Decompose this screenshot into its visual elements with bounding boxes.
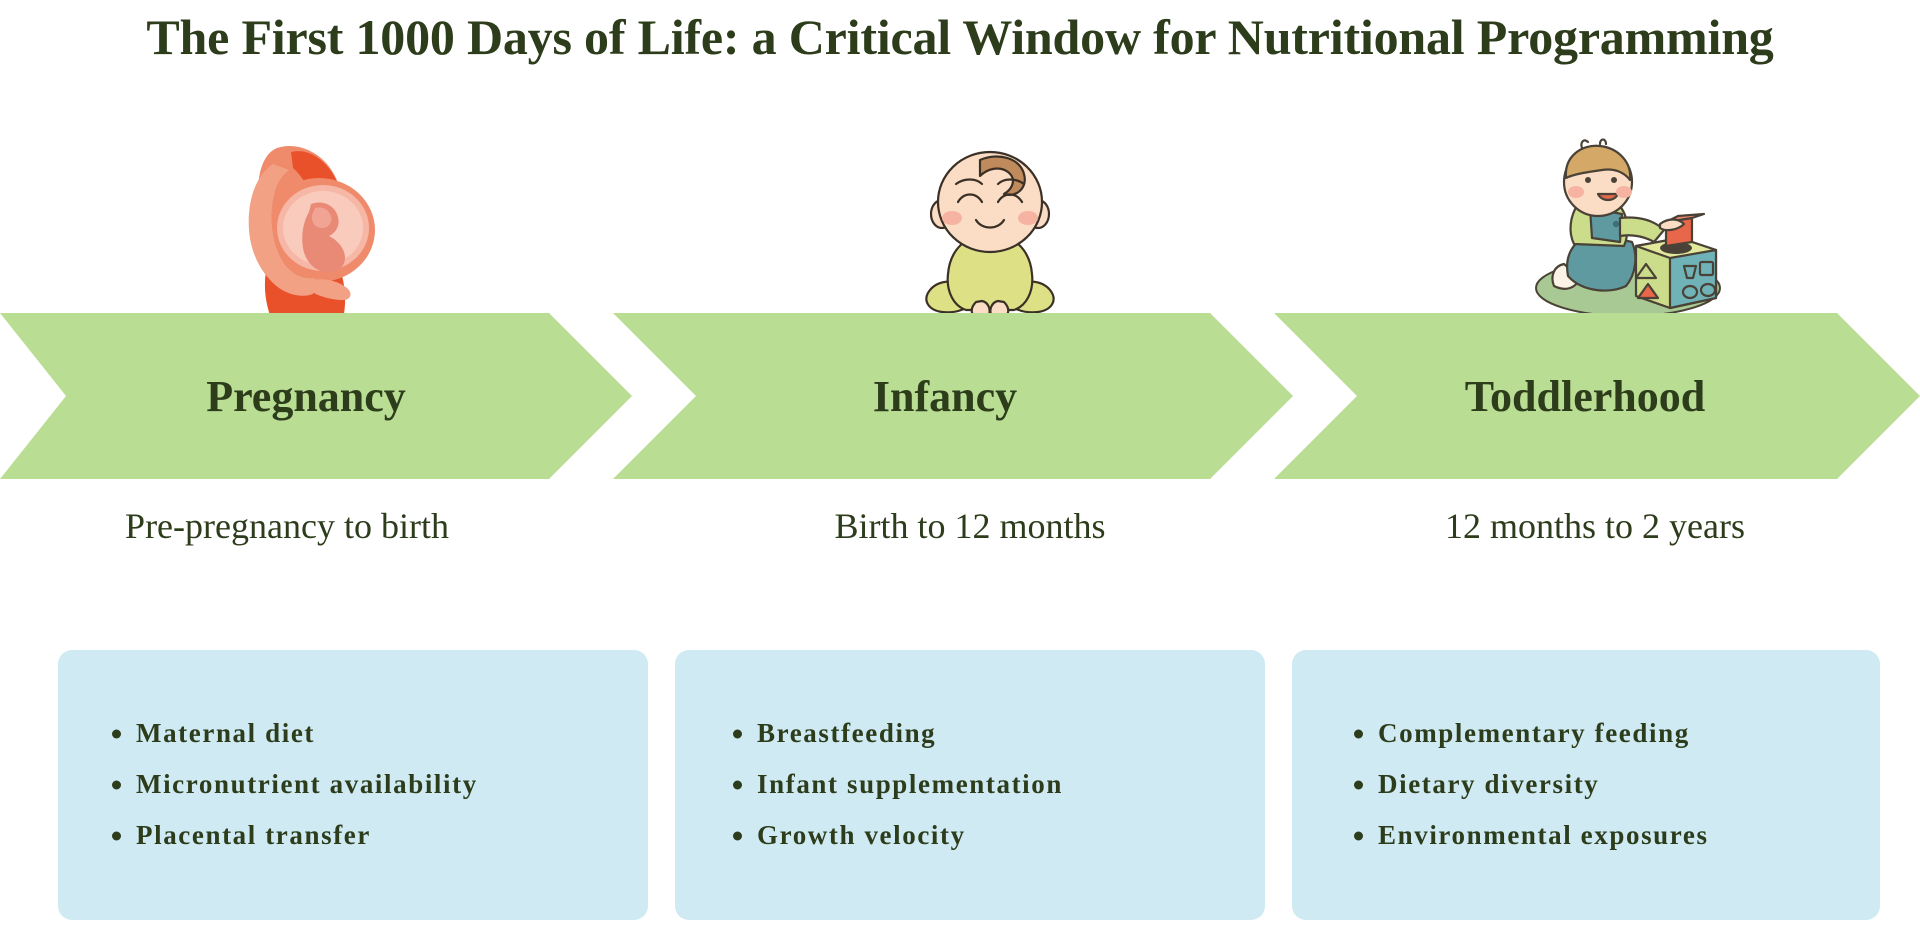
list-item: Breastfeeding xyxy=(675,708,1265,759)
factors-card-pregnancy: Maternal diet Micronutrient availability… xyxy=(58,650,648,920)
chevron-label: Infancy xyxy=(873,371,1017,422)
bullet-dot-icon xyxy=(1354,729,1363,738)
bullet-dot-icon xyxy=(1354,831,1363,840)
list-item: Dietary diversity xyxy=(1292,759,1880,810)
bullet-dot-icon xyxy=(112,780,121,789)
bullet-dot-icon xyxy=(733,729,742,738)
list-item: Micronutrient availability xyxy=(58,759,648,810)
list-item-label: Growth velocity xyxy=(757,820,966,850)
list-item: Growth velocity xyxy=(675,810,1265,861)
list-item-label: Placental transfer xyxy=(136,820,371,850)
sitting-baby-illustration xyxy=(880,138,1100,318)
list-item-label: Dietary diversity xyxy=(1378,769,1599,799)
list-item: Infant supplementation xyxy=(675,759,1265,810)
list-item-label: Maternal diet xyxy=(136,718,315,748)
list-item: Environmental exposures xyxy=(1292,810,1880,861)
stage-subtitle-pregnancy: Pre-pregnancy to birth xyxy=(0,505,574,547)
factors-card-toddlerhood: Complementary feeding Dietary diversity … xyxy=(1292,650,1880,920)
list-item-label: Complementary feeding xyxy=(1378,718,1690,748)
bullet-dot-icon xyxy=(112,729,121,738)
bullet-dot-icon xyxy=(1354,780,1363,789)
factors-list: Complementary feeding Dietary diversity … xyxy=(1292,708,1880,861)
list-item: Complementary feeding xyxy=(1292,708,1880,759)
list-item-label: Environmental exposures xyxy=(1378,820,1709,850)
chevron-stage-infancy[interactable]: Infancy xyxy=(613,313,1293,479)
toddler-shape-sorter-illustration xyxy=(1520,138,1740,318)
list-item-label: Infant supplementation xyxy=(757,769,1063,799)
factors-card-infancy: Breastfeeding Infant supplementation Gro… xyxy=(675,650,1265,920)
chevron-label: Toddlerhood xyxy=(1465,371,1705,422)
stage-subtitle-toddlerhood: 12 months to 2 years xyxy=(1270,505,1920,547)
factors-list: Breastfeeding Infant supplementation Gro… xyxy=(675,708,1265,861)
page-title: The First 1000 Days of Life: a Critical … xyxy=(0,8,1920,66)
list-item: Maternal diet xyxy=(58,708,648,759)
chevron-stage-toddlerhood[interactable]: Toddlerhood xyxy=(1274,313,1920,479)
list-item-label: Micronutrient availability xyxy=(136,769,478,799)
pregnant-woman-illustration xyxy=(215,138,435,318)
stage-subtitle-infancy: Birth to 12 months xyxy=(600,505,1340,547)
chevron-stage-pregnancy[interactable]: Pregnancy xyxy=(0,313,632,479)
list-item-label: Breastfeeding xyxy=(757,718,936,748)
bullet-dot-icon xyxy=(112,831,121,840)
bullet-dot-icon xyxy=(733,831,742,840)
factors-list: Maternal diet Micronutrient availability… xyxy=(58,708,648,861)
list-item: Placental transfer xyxy=(58,810,648,861)
bullet-dot-icon xyxy=(733,780,742,789)
stage-chevron-band: Pregnancy Infancy Toddlerhood xyxy=(0,313,1920,479)
chevron-label: Pregnancy xyxy=(206,371,406,422)
